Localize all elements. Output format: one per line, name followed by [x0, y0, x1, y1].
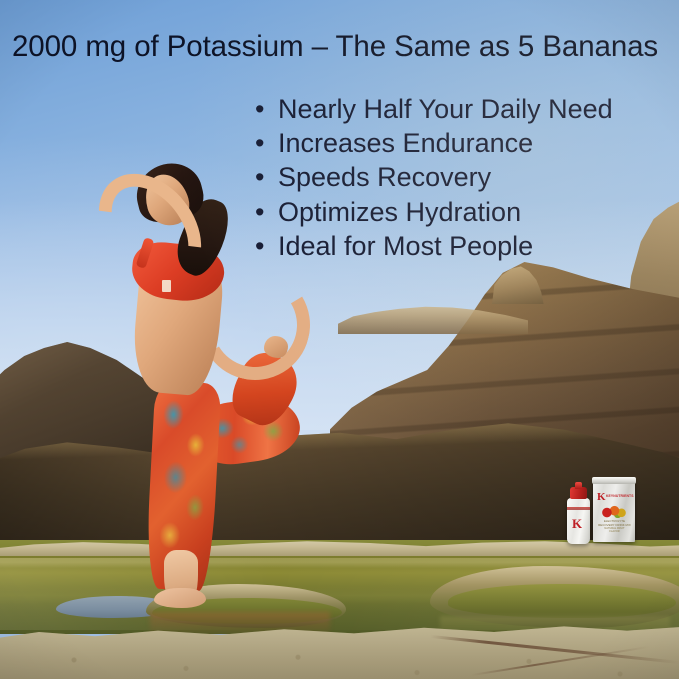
benefit-item: •Nearly Half Your Daily Need: [252, 92, 672, 126]
benefits-list: •Nearly Half Your Daily Need•Increases E…: [252, 92, 672, 263]
pouch-logo-letter: K: [597, 492, 606, 503]
bottle-accent-ring: [567, 507, 590, 510]
bullet-dot-icon: •: [255, 195, 264, 229]
gripping-hand: [264, 336, 288, 358]
benefit-label: Speeds Recovery: [278, 162, 491, 192]
benefit-label: Ideal for Most People: [278, 231, 533, 261]
bottle-logo-letter: K: [572, 517, 582, 530]
benefit-item: •Ideal for Most People: [252, 229, 672, 263]
bottle-nozzle: [575, 482, 582, 489]
pouch-brand-name: KEYNUTRIENTS: [606, 494, 632, 498]
pouch-fruit-graphic: [601, 505, 628, 518]
benefit-label: Optimizes Hydration: [278, 197, 521, 227]
benefit-label: Increases Endurance: [278, 128, 533, 158]
benefit-item: •Optimizes Hydration: [252, 195, 672, 229]
bullet-dot-icon: •: [255, 229, 264, 263]
pouch-top-seal: [592, 477, 636, 484]
right-stone-moss: [448, 584, 676, 618]
bullet-dot-icon: •: [255, 92, 264, 126]
bullet-dot-icon: •: [255, 126, 264, 160]
benefit-item: •Speeds Recovery: [252, 160, 672, 194]
advertisement-image: K K KEYNUTRIENTS ELECTROLYTE RECOVERY DR…: [0, 0, 679, 679]
headline-text: 2000 mg of Potassium – The Same as 5 Ban…: [12, 30, 678, 64]
standing-foot: [154, 588, 206, 608]
pouch-flavor-note: NATURAL FRUIT FLAVOR: [600, 527, 629, 534]
bullet-dot-icon: •: [255, 160, 264, 194]
benefit-label: Nearly Half Your Daily Need: [278, 94, 613, 124]
benefit-item: •Increases Endurance: [252, 126, 672, 160]
